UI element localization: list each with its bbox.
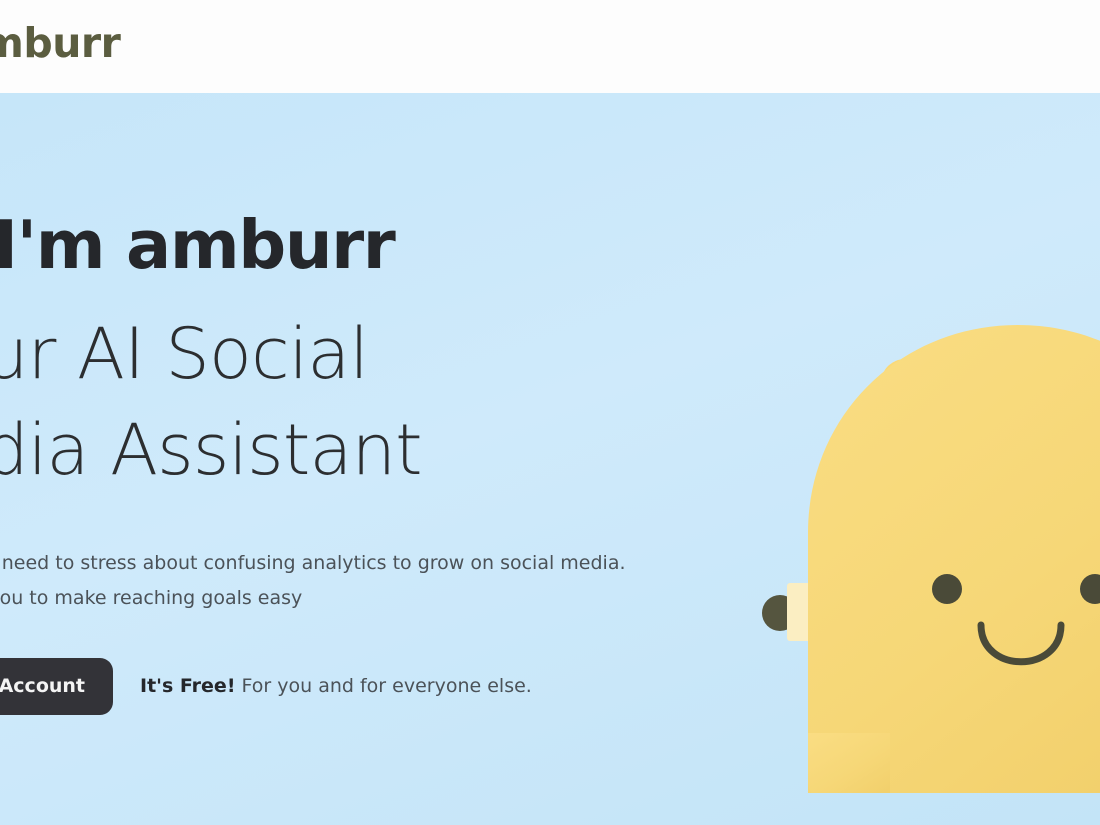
amburr-robot-illustration	[740, 233, 1100, 793]
hero-copy: ! I'm amburr our AI Social edia Assistan…	[0, 211, 762, 715]
antenna-ball-icon	[881, 359, 929, 407]
left-eye-icon	[932, 574, 962, 604]
ear-knob-icon	[762, 595, 798, 631]
mascot-body-base	[808, 733, 890, 793]
hero-subcopy: ould't need to stress about confusing an…	[0, 546, 762, 616]
site-header: amburr	[0, 0, 1100, 93]
brand-logo[interactable]: amburr	[0, 20, 120, 67]
hero-headline-secondary-line1: our AI Social	[0, 307, 762, 402]
cta-note-text: For you and for everyone else.	[242, 675, 532, 697]
create-account-button[interactable]: te Account	[0, 658, 113, 715]
page-root: amburr ! I'm amburr our AI Social edia A…	[0, 0, 1100, 825]
hero-subcopy-line1: ould't need to stress about confusing an…	[0, 552, 626, 574]
mascot-body	[808, 325, 1100, 793]
hero-headline-primary: ! I'm amburr	[0, 211, 762, 279]
cta-row: te Account It's Free! For you and for ev…	[0, 658, 762, 715]
smile-icon	[981, 625, 1061, 662]
hero-subcopy-line2: with you to make reaching goals easy	[0, 587, 302, 609]
antenna-stem-icon	[902, 383, 909, 458]
cta-note-emphasis: It's Free!	[140, 675, 235, 697]
hero-section: ! I'm amburr our AI Social edia Assistan…	[0, 93, 1100, 825]
ear-plate-icon	[787, 583, 815, 641]
right-eye-icon	[1080, 574, 1100, 604]
cta-note: It's Free! For you and for everyone else…	[140, 675, 532, 697]
hero-headline-secondary-line2: edia Assistant	[0, 403, 762, 498]
hero-headline-secondary: our AI Social edia Assistant	[0, 307, 762, 497]
